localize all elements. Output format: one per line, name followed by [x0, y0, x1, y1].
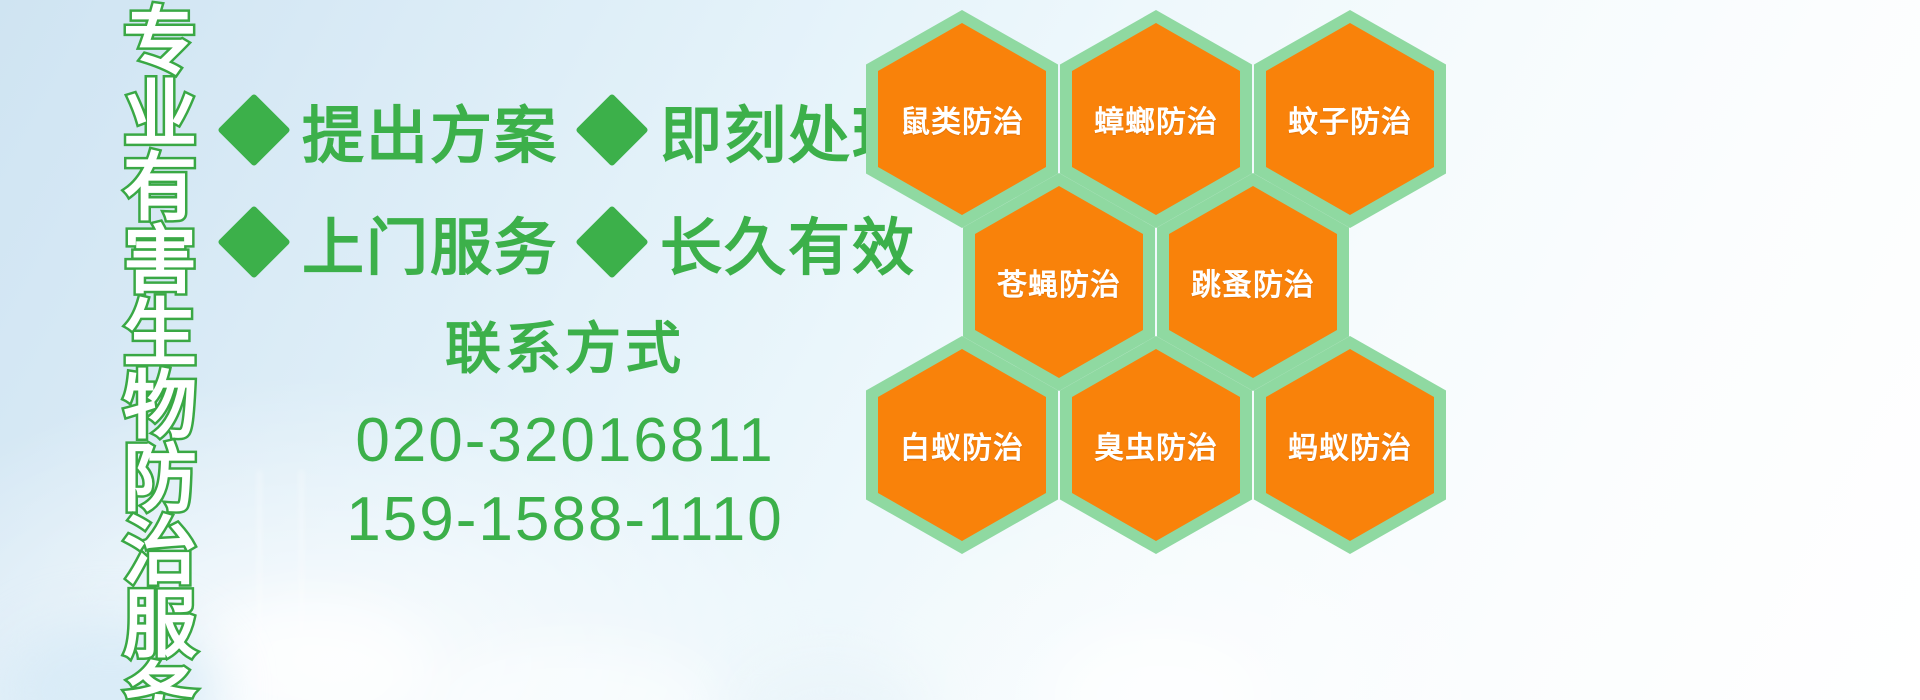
background-blur-blob	[740, 660, 920, 700]
background-blur-blob	[180, 600, 440, 700]
feature-list: 提出方案 即刻处理 上门服务 长久有效	[228, 74, 868, 298]
background-light-streak	[300, 470, 303, 700]
vertical-headline-char: 物	[104, 370, 216, 443]
vertical-headline-char: 业	[104, 79, 216, 152]
pest-control-service-banner: 专 业 有 害 生 物 防 治 服 务 提出方案 即刻处理 上门服务	[0, 0, 1920, 700]
vertical-headline-char: 害	[104, 225, 216, 298]
vertical-headline-char: 生	[104, 298, 216, 371]
service-label: 鼠类防治	[900, 97, 1024, 141]
feature-row: 上门服务 长久有效	[228, 186, 868, 298]
service-label: 臭虫防治	[1094, 423, 1218, 467]
vertical-headline: 专 业 有 害 生 物 防 治 服 务	[104, 6, 216, 700]
contact-block: 联系方式 020-32016811 159-1588-1110	[330, 320, 800, 560]
service-hex-inner: 蚂蚁防治	[1266, 349, 1434, 541]
feature-item-propose-plan: 提出方案	[228, 85, 558, 175]
phone-landline[interactable]: 020-32016811	[330, 401, 800, 480]
service-hex-inner: 蟑螂防治	[1072, 23, 1240, 215]
feature-label: 上门服务	[302, 197, 558, 287]
vertical-headline-char: 服	[104, 589, 216, 662]
service-label: 蟑螂防治	[1094, 97, 1218, 141]
contact-heading: 联系方式	[330, 320, 800, 379]
diamond-bullet-icon	[575, 205, 649, 279]
feature-item-onsite-service: 上门服务	[228, 197, 558, 287]
service-label: 白蚁防治	[900, 423, 1024, 467]
service-hex-inner: 白蚁防治	[878, 349, 1046, 541]
service-hex-inner: 臭虫防治	[1072, 349, 1240, 541]
background-light-streak	[258, 470, 261, 700]
vertical-headline-char: 务	[104, 662, 216, 700]
service-label: 苍蝇防治	[997, 260, 1121, 304]
background-blur-blob	[420, 640, 720, 700]
phone-mobile[interactable]: 159-1588-1110	[330, 480, 800, 559]
service-hex-inner: 鼠类防治	[878, 23, 1046, 215]
service-label: 蚂蚁防治	[1288, 423, 1412, 467]
service-label: 蚊子防治	[1288, 97, 1412, 141]
service-hex-inner: 苍蝇防治	[975, 186, 1143, 378]
vertical-headline-char: 有	[104, 152, 216, 225]
vertical-headline-char: 治	[104, 516, 216, 589]
feature-row: 提出方案 即刻处理	[228, 74, 868, 186]
vertical-headline-char: 专	[104, 6, 216, 79]
service-label: 跳蚤防治	[1191, 260, 1315, 304]
background-blur-blob	[1050, 630, 1270, 700]
diamond-bullet-icon	[217, 93, 291, 167]
diamond-bullet-icon	[217, 205, 291, 279]
service-hex-inner: 跳蚤防治	[1169, 186, 1337, 378]
diamond-bullet-icon	[575, 93, 649, 167]
service-hex-inner: 蚊子防治	[1266, 23, 1434, 215]
service-honeycomb-grid: 鼠类防治 蟑螂防治 蚊子防治 苍蝇防治 跳蚤防治 白蚁防治	[862, 0, 1462, 560]
feature-label: 提出方案	[302, 85, 558, 175]
vertical-headline-char: 防	[104, 443, 216, 516]
